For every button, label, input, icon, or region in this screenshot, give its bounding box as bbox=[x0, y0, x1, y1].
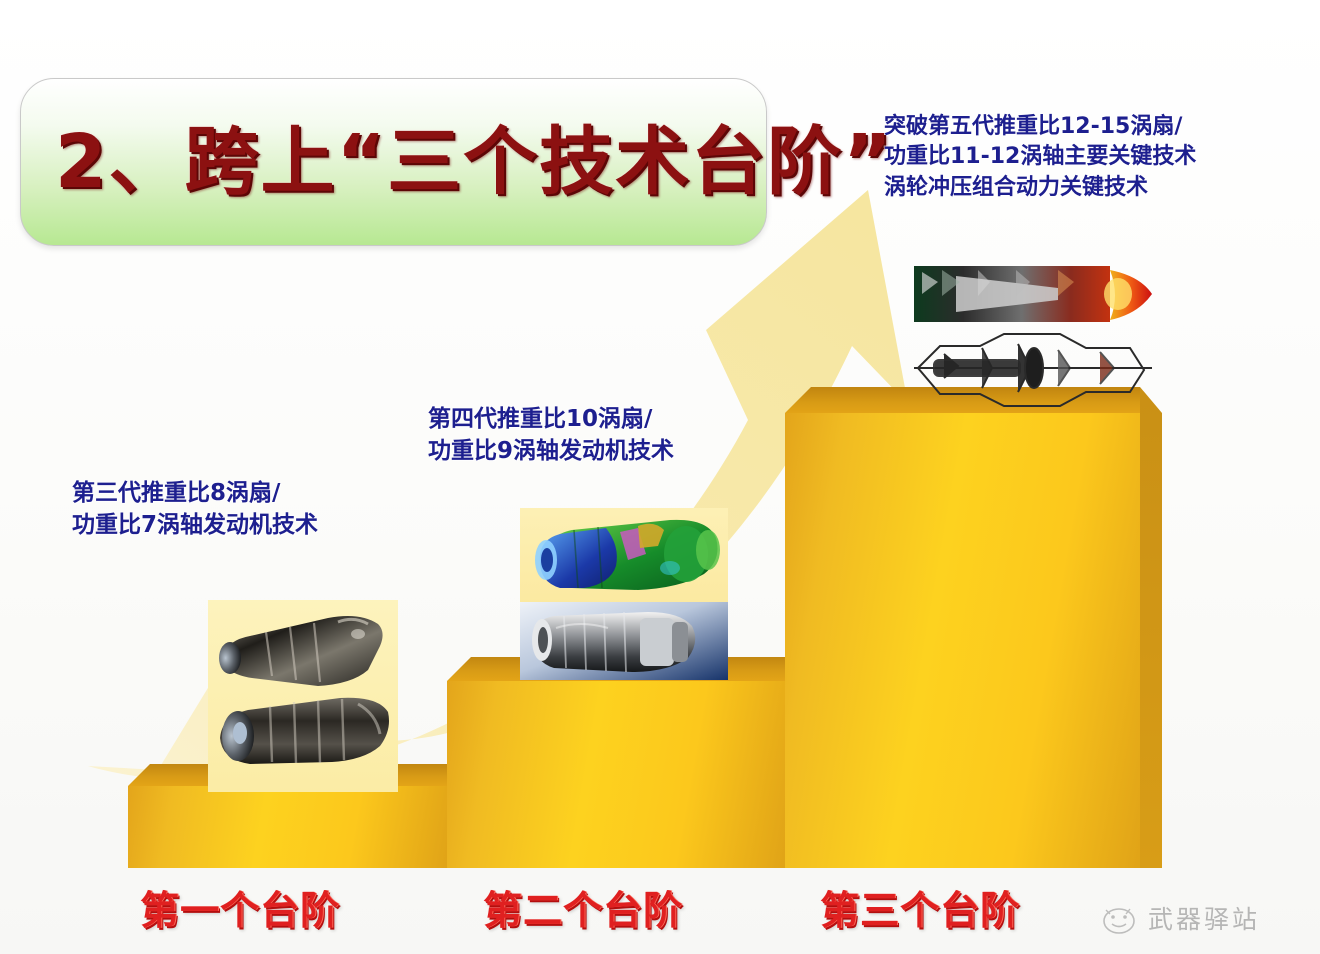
turbofan-engine-grayscale-photo bbox=[532, 612, 695, 672]
step-block-2 bbox=[447, 681, 785, 868]
step-3-image-panel bbox=[908, 256, 1158, 416]
slide-canvas: 2、跨上“三个技术台阶” bbox=[0, 0, 1320, 954]
smiley-face-icon bbox=[1100, 901, 1138, 935]
watermark: 武器驿站 bbox=[1100, 900, 1260, 936]
step-3-front-face bbox=[785, 413, 1140, 868]
turbofan-engine-photo bbox=[220, 698, 389, 764]
cad-turboshaft-engine-render bbox=[535, 520, 720, 590]
turbojet-engine-photo bbox=[219, 616, 383, 686]
step-2-photo-panel bbox=[520, 602, 728, 680]
step-2-label: 第二个台阶 bbox=[483, 880, 683, 936]
step-1-photo-panel bbox=[208, 600, 398, 792]
engine-cutaway-with-afterburner-flame bbox=[914, 266, 1152, 322]
step-1-front-face bbox=[128, 786, 447, 868]
turbine-ramjet-combined-cycle-schematic bbox=[914, 334, 1152, 406]
step-1-caption: 第三代推重比8涡扇/ 功重比7涡轴发动机技术 bbox=[72, 478, 318, 541]
step-1-label: 第一个台阶 bbox=[140, 880, 340, 936]
step-2-front-face bbox=[447, 681, 785, 868]
step-3-caption: 突破第五代推重比12-15涡扇/ 功重比11-12涡轴主要关键技术 涡轮冲压组合… bbox=[884, 112, 1196, 203]
step-block-1 bbox=[128, 786, 447, 868]
page-title: 2、跨上“三个技术台阶” bbox=[55, 93, 894, 231]
step-3-label: 第三个台阶 bbox=[820, 880, 1020, 936]
step-block-3 bbox=[785, 413, 1140, 868]
step-2-cad-panel bbox=[520, 508, 728, 606]
watermark-text: 武器驿站 bbox=[1148, 900, 1260, 936]
title-box: 2、跨上“三个技术台阶” bbox=[20, 78, 767, 246]
step-3-side-face bbox=[1140, 387, 1162, 868]
step-2-caption: 第四代推重比10涡扇/ 功重比9涡轴发动机技术 bbox=[428, 404, 674, 467]
